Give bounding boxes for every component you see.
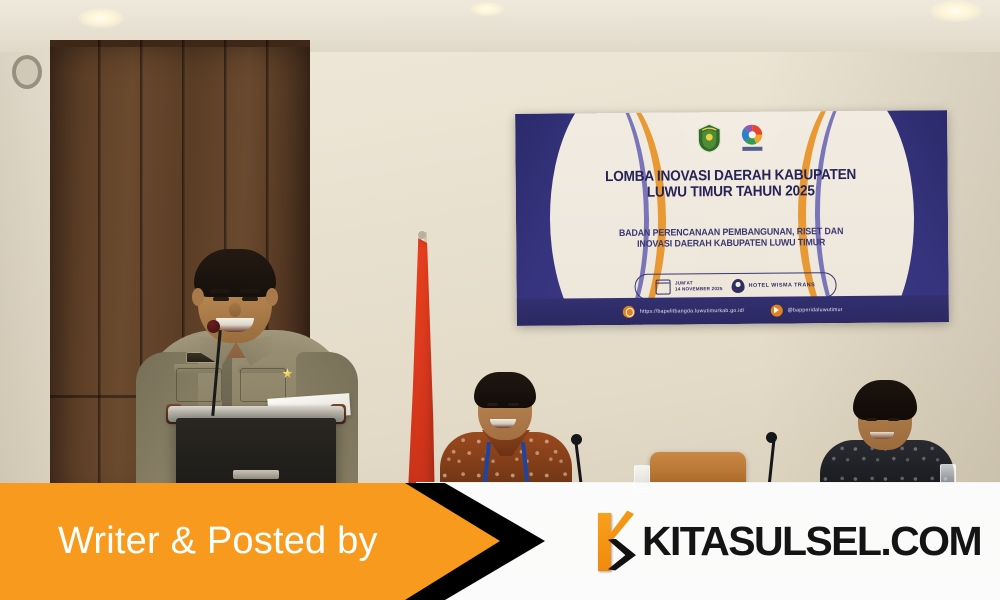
brand-wordmark: KITASULSEL.COM bbox=[642, 518, 981, 565]
uniform-pocket bbox=[240, 368, 286, 402]
wood-groove bbox=[98, 40, 101, 510]
kitasulsel-logo: KITASULSEL.COM bbox=[588, 483, 981, 600]
banner-website-text: https://bapelitbangda.luwutimurkab.go.id… bbox=[640, 307, 745, 314]
wood-panel-top-trim bbox=[50, 40, 310, 47]
eye bbox=[888, 418, 899, 421]
banner-venue-text: HOTEL WISMA TRANS bbox=[749, 282, 816, 289]
globe-icon bbox=[623, 305, 635, 317]
eye bbox=[508, 403, 519, 406]
eye bbox=[487, 403, 498, 406]
k-chevron-icon bbox=[588, 511, 638, 573]
calendar-icon bbox=[656, 279, 671, 294]
social-play-icon bbox=[770, 304, 782, 316]
banner-date-full: 14 NOVEMBER 2025 bbox=[675, 286, 723, 291]
location-pin-icon bbox=[732, 279, 745, 293]
banner-subtitle-line2: INOVASI DAERAH KABUPATEN LUWU TIMUR bbox=[602, 236, 860, 250]
banner-social-text: @bapperidaluwutimur bbox=[787, 307, 842, 313]
eye bbox=[242, 297, 258, 301]
banner-logo-row bbox=[515, 121, 947, 155]
ceiling-downlight bbox=[470, 2, 504, 16]
banner-footer: https://bapelitbangda.luwutimurkab.go.id… bbox=[517, 295, 949, 326]
speaker-hair bbox=[194, 249, 276, 297]
podium-name-plate bbox=[233, 470, 279, 479]
ear bbox=[266, 288, 278, 306]
wall-mounted-disc bbox=[12, 55, 42, 89]
watermark-bar: Writer & Posted by KITASULSEL.COM bbox=[0, 483, 1000, 600]
seated-official-left-hair bbox=[474, 372, 536, 408]
ear bbox=[192, 288, 204, 306]
banner-date-day: JUM'AT bbox=[675, 280, 693, 285]
nose bbox=[229, 303, 241, 317]
event-banner: LOMBA INOVASI DAERAH KABUPATEN LUWU TIMU… bbox=[515, 110, 949, 326]
banner-title-line2: LUWU TIMUR TAHUN 2025 bbox=[603, 183, 858, 202]
smiling-mouth bbox=[870, 432, 894, 439]
eyebrow bbox=[240, 289, 260, 293]
banner-social-chip: @bapperidaluwutimur bbox=[770, 304, 842, 317]
seated-official-right-hair bbox=[853, 380, 917, 420]
banner-subtitle: BADAN PERENCANAAN PEMBANGUNAN, RISET DAN… bbox=[602, 225, 860, 250]
table-microphone-head bbox=[766, 432, 777, 443]
screenshot-root: LOMBA INOVASI DAERAH KABUPATEN LUWU TIMU… bbox=[0, 0, 1000, 600]
ceiling-downlight bbox=[78, 8, 124, 28]
banner-website-chip: https://bapelitbangda.luwutimurkab.go.id… bbox=[623, 304, 745, 317]
banner-title-line1: LOMBA INOVASI DAERAH KABUPATEN bbox=[603, 167, 858, 186]
watermark-credit-text: Writer & Posted by bbox=[58, 483, 378, 600]
banner-title: LOMBA INOVASI DAERAH KABUPATEN LUWU TIMU… bbox=[603, 167, 858, 202]
ceiling-downlight bbox=[930, 0, 982, 22]
banner-date-text: JUM'AT 14 NOVEMBER 2025 bbox=[675, 280, 723, 293]
podium-microphone-head bbox=[207, 320, 220, 333]
table-microphone-head bbox=[571, 434, 582, 445]
k-lower-chevron bbox=[608, 539, 636, 571]
k-vertical-bar bbox=[598, 513, 611, 571]
flag-pole-finial bbox=[418, 231, 426, 239]
regency-crest-icon bbox=[696, 123, 722, 153]
eye bbox=[866, 418, 877, 421]
kabupaten-logo-icon bbox=[738, 123, 766, 153]
eyebrow bbox=[210, 289, 230, 293]
banner-venue-block: HOTEL WISMA TRANS bbox=[732, 278, 816, 293]
banner-date-block: JUM'AT 14 NOVEMBER 2025 bbox=[656, 279, 723, 295]
eye bbox=[213, 297, 229, 301]
